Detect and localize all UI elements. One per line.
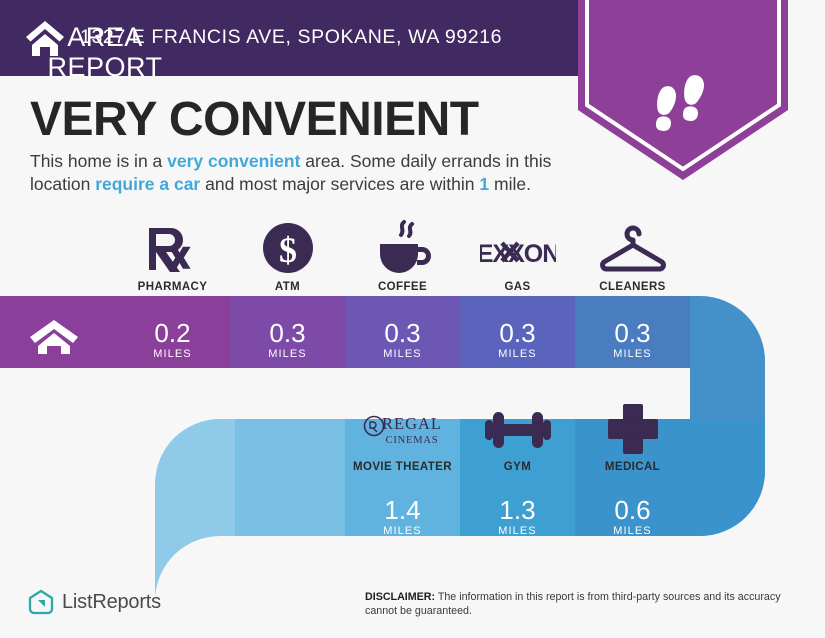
category-coffee: COFFEE — [345, 218, 460, 293]
category-label: CLEANERS — [575, 281, 690, 293]
svg-text:CINEMAS: CINEMAS — [385, 435, 438, 446]
category-label: MEDICAL — [575, 461, 690, 473]
category-atm: $ ATM — [230, 218, 345, 293]
disclaimer-label: DISCLAIMER: — [365, 591, 435, 603]
coffee-cup-icon — [345, 218, 460, 274]
dumbbell-icon — [460, 398, 575, 454]
disclaimer: DISCLAIMER: The information in this repo… — [365, 591, 815, 618]
category-label: ATM — [230, 281, 345, 293]
category-label: GYM — [460, 461, 575, 473]
summary-fragment: mile. — [489, 174, 531, 194]
svg-text:$: $ — [279, 230, 297, 270]
category-label: GAS — [460, 281, 575, 293]
category-label: COFFEE — [345, 281, 460, 293]
listreports-house-icon — [28, 589, 54, 615]
summary-highlight: require a car — [95, 174, 200, 194]
category-gas: EXXON GAS — [460, 218, 575, 293]
dollar-circle-icon: $ — [230, 218, 345, 274]
row-one-home-marker — [28, 318, 80, 354]
property-address: 1327 E FRANCIS AVE, SPOKANE, WA 99216 — [80, 26, 502, 49]
category-label: MOVIE THEATER — [345, 461, 460, 473]
summary-fragment: and most major services are within — [200, 174, 479, 194]
regal-cinemas-icon: REGAL CINEMAS — [345, 398, 460, 454]
category-label: PHARMACY — [115, 281, 230, 293]
row-one-icons: PHARMACY $ ATM COFFEE EXXON — [0, 218, 825, 300]
area-report-banner — [578, 0, 788, 180]
row-two-icons: REGAL CINEMAS MOVIE THEATER GYM — [0, 398, 825, 480]
exxon-logo-icon: EXXON — [460, 218, 575, 274]
pharmacy-rx-icon — [115, 218, 230, 274]
summary-highlight: 1 — [479, 174, 489, 194]
page-title: VERY CONVENIENT — [30, 92, 479, 147]
category-cleaners: CLEANERS — [575, 218, 690, 293]
category-gym: GYM — [460, 398, 575, 473]
home-icon — [24, 18, 66, 58]
category-medical: MEDICAL — [575, 398, 690, 473]
category-movie-theater: REGAL CINEMAS MOVIE THEATER — [345, 398, 460, 473]
category-pharmacy: PHARMACY — [115, 218, 230, 293]
brand-name: ListReports — [62, 591, 161, 614]
svg-text:REGAL: REGAL — [382, 414, 442, 433]
summary-fragment: This home is in a — [30, 151, 167, 171]
listreports-brand[interactable]: ListReports — [28, 589, 161, 615]
summary-highlight: very convenient — [167, 151, 300, 171]
summary-text: This home is in a very convenient area. … — [30, 150, 590, 196]
medical-cross-icon — [575, 398, 690, 454]
hanger-icon — [575, 218, 690, 274]
